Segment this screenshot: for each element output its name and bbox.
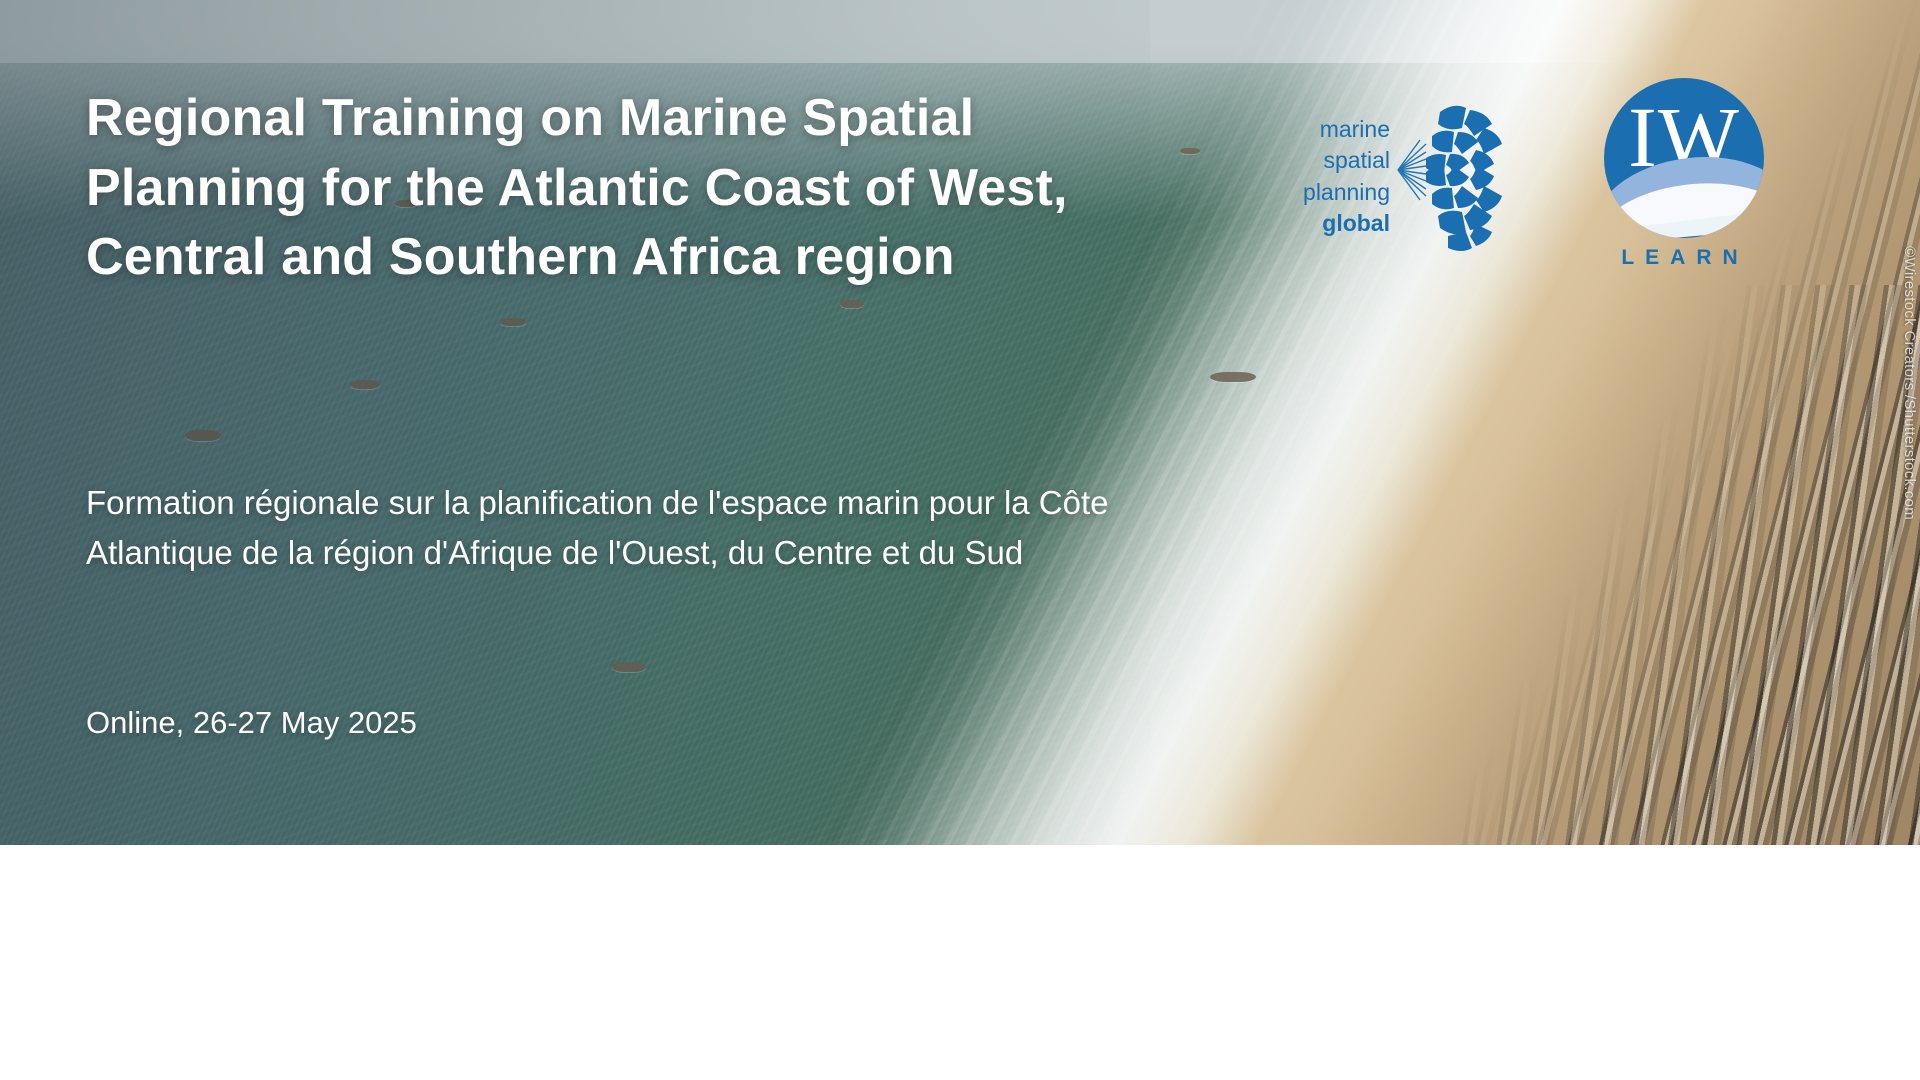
event-dateline: Online, 26-27 May 2025 [86,705,417,741]
iw-learn-logo: IW LEARN [1590,78,1780,293]
msp-line-spatial: spatial [1268,145,1390,176]
iw-circle-badge: IW [1604,78,1764,238]
photo-credit-watermark: ©Wirestock Creators /Shutterstock.com [1901,246,1918,520]
footer-section: Organised by / Organisé par : With the s… [0,845,1920,1080]
msp-global-wordmark: marine spatial planning global [1268,114,1390,239]
msp-global-logo: marine spatial planning global [1268,96,1508,266]
msp-line-global: global [1268,208,1390,239]
msp-mosaic-icon [1396,96,1508,266]
fishing-boat [1180,148,1200,154]
fishing-boat [1210,372,1256,382]
msp-line-planning: planning [1268,177,1390,208]
page-title: Regional Training on Marine Spatial Plan… [86,84,1156,293]
msp-line-marine: marine [1268,114,1390,145]
iw-learn-wordmark: LEARN [1590,246,1780,270]
page-subtitle-french: Formation régionale sur la planification… [86,478,1216,578]
event-banner: Regional Training on Marine Spatial Plan… [0,0,1920,1080]
hero-section: Regional Training on Marine Spatial Plan… [0,0,1920,845]
